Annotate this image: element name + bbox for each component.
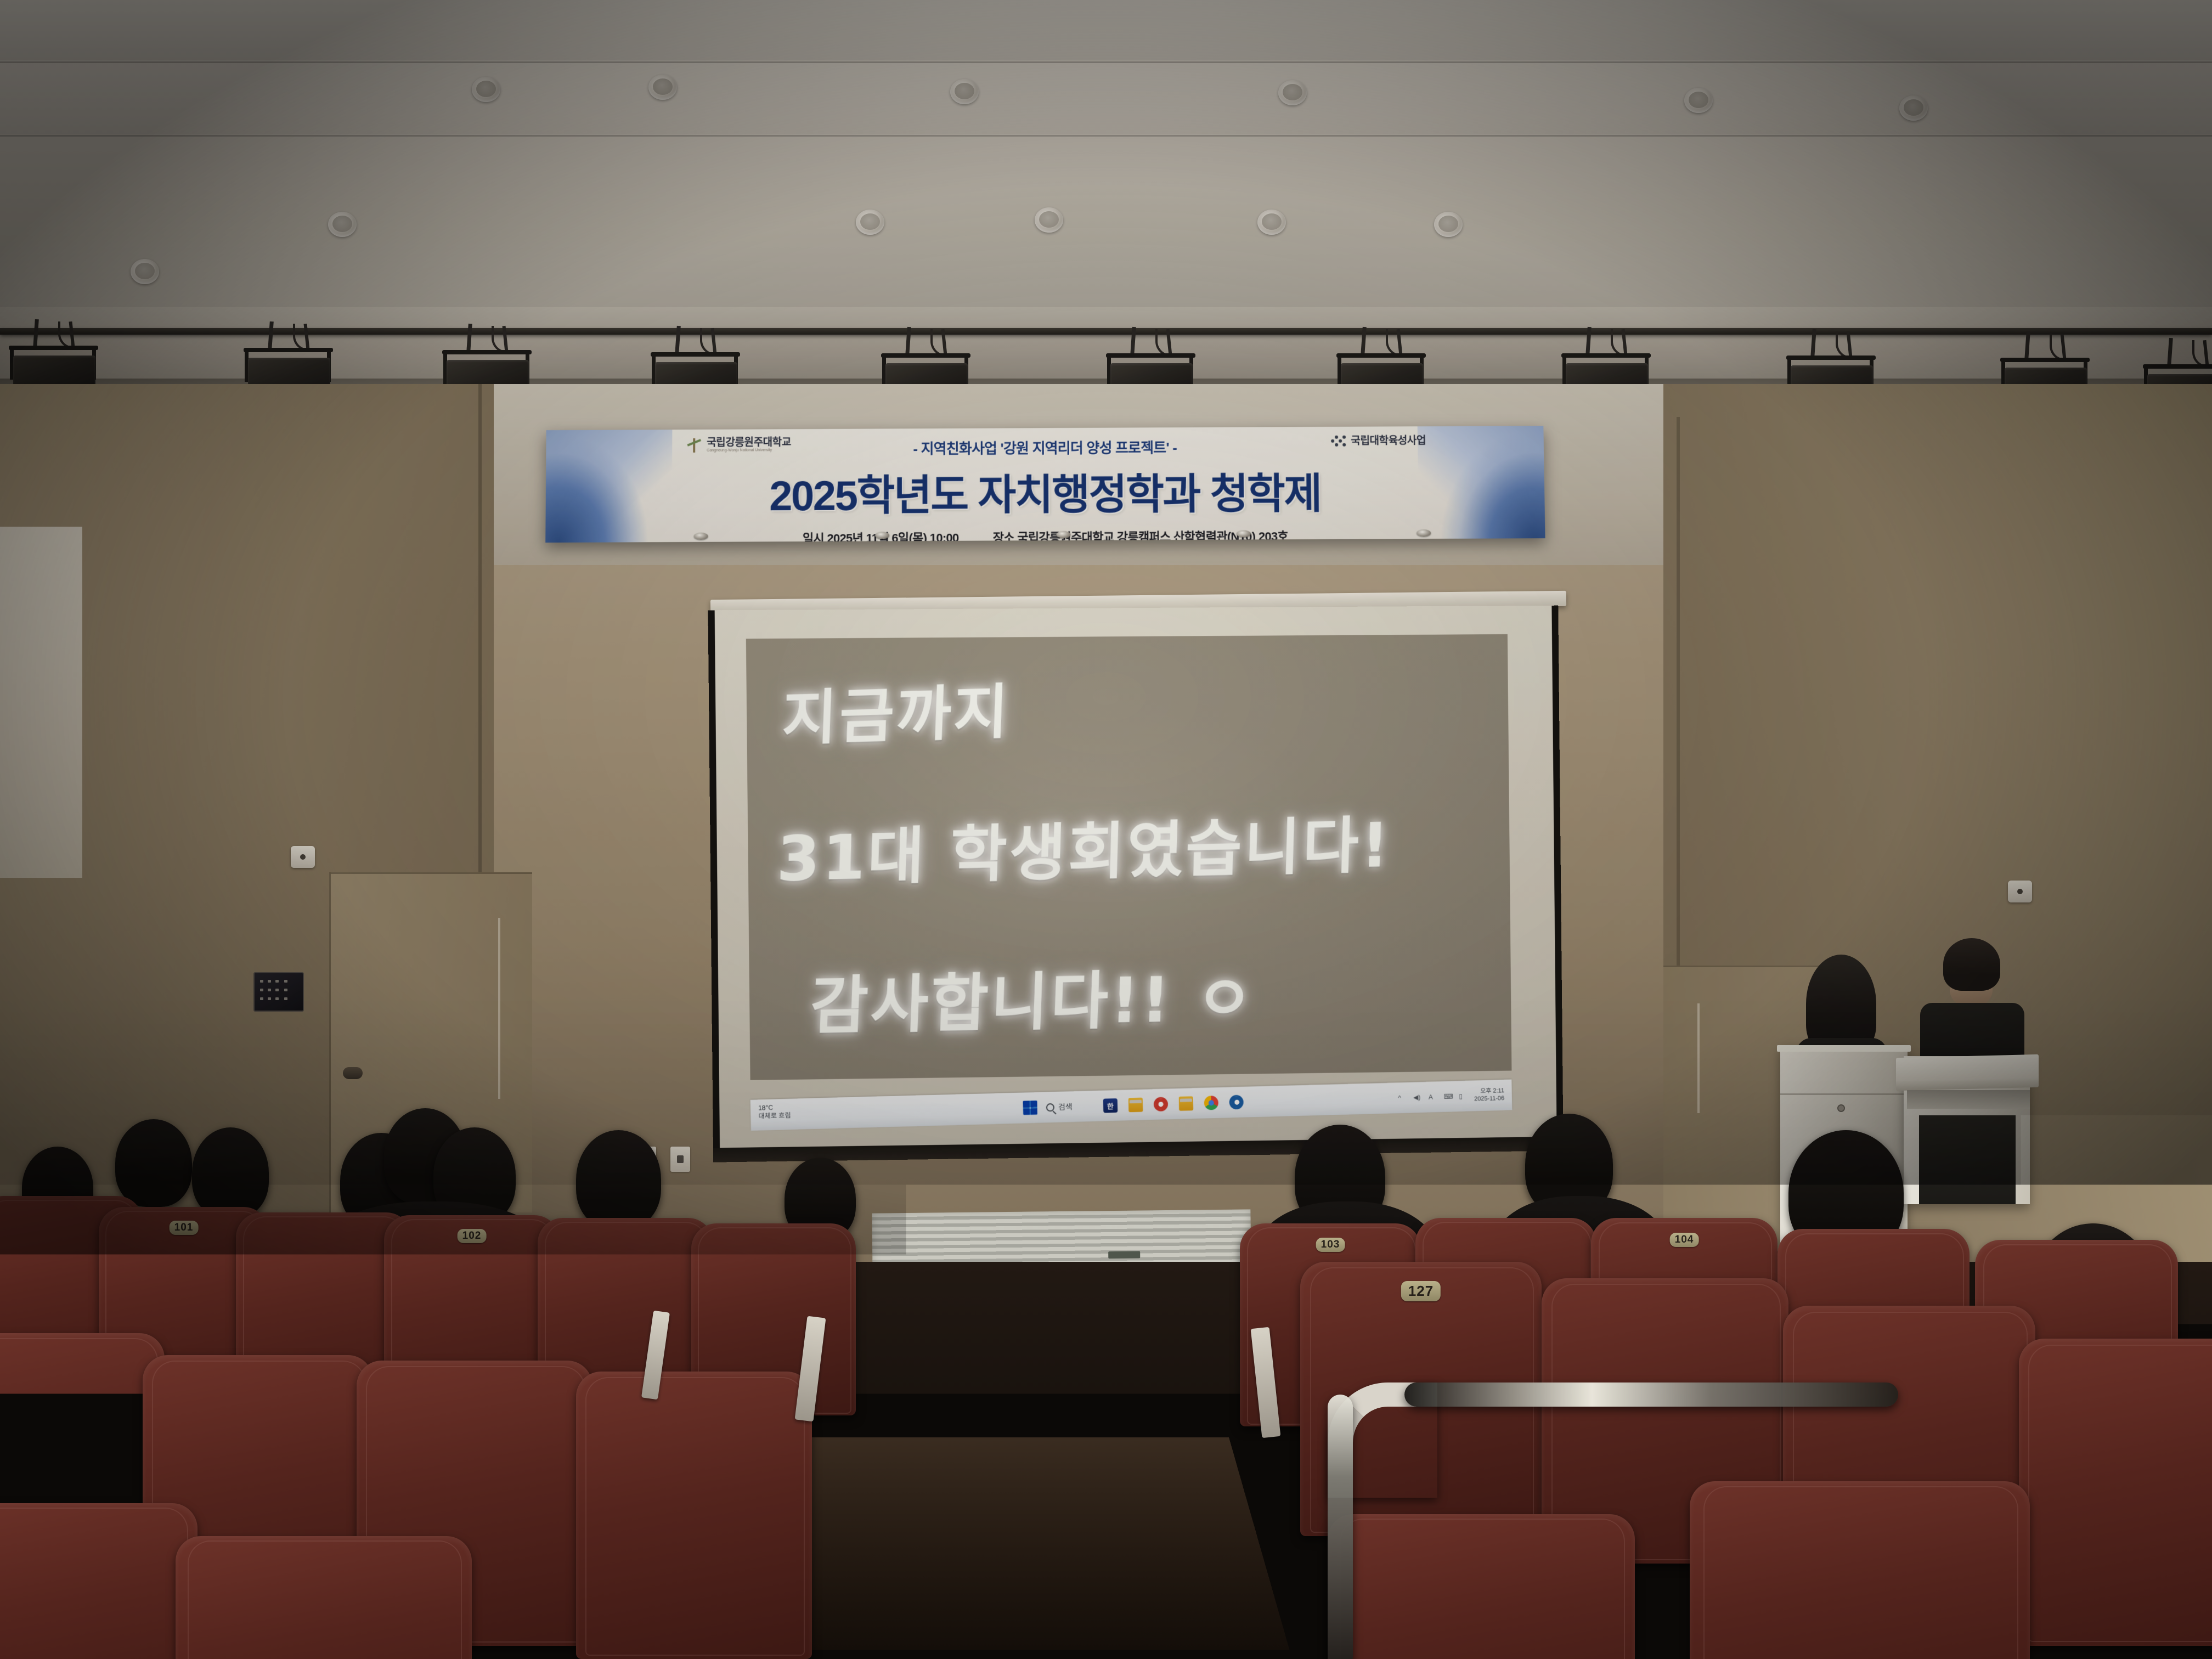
seat-number-plate: 102	[458, 1229, 487, 1243]
seat[interactable]	[576, 1372, 812, 1659]
taskbar-weather-widget[interactable]: 18°C 대체로 흐림	[758, 1103, 791, 1121]
banner-subtitle: - 지역친화사업 '강원 지역리더 양성 프로젝트' -	[913, 437, 1177, 458]
door-edge	[1697, 1003, 1700, 1113]
banner-grommet	[694, 533, 708, 540]
clock-date: 2025-11-06	[1474, 1095, 1504, 1103]
audience-head	[115, 1119, 192, 1207]
taskbar-center-group: 검색 한	[1023, 1087, 1244, 1124]
cabinet-lock-icon	[1837, 1104, 1845, 1112]
projected-text-line-2: 31대 학생회였습니다!	[776, 792, 1539, 899]
audience-head	[192, 1127, 269, 1218]
projection-screen: 지금까지 31대 학생회였습니다! 감사합니다!! ㅇ 18°C 대체로 흐림 …	[708, 606, 1563, 1163]
taskbar-system-tray: ^ ◀) A ⌨ ▯ 오후 2:11 2025-11-06	[1398, 1080, 1505, 1113]
downlight-icon	[1899, 95, 1928, 121]
downlight-icon	[1684, 88, 1713, 113]
banner-grommet	[875, 532, 889, 539]
projected-text-line-3: 감사합니다!! ㅇ	[809, 942, 1556, 1046]
downlight-icon	[950, 79, 979, 104]
chrome-icon[interactable]	[1204, 1096, 1218, 1110]
seat[interactable]: 127	[1300, 1262, 1542, 1536]
downlight-icon	[328, 212, 357, 237]
hwp-icon[interactable]: 한	[1103, 1098, 1118, 1113]
opera-icon[interactable]	[1153, 1097, 1168, 1111]
audience-head	[576, 1130, 661, 1229]
downlight-icon	[472, 77, 500, 102]
edge-icon[interactable]	[1229, 1095, 1244, 1110]
projected-image: 지금까지 31대 학생회였습니다! 감사합니다!! ㅇ	[746, 634, 1512, 1080]
seat[interactable]	[0, 1503, 198, 1659]
banner-grommet	[1417, 529, 1431, 537]
seat[interactable]	[1690, 1481, 2030, 1659]
downlight-icon	[1434, 212, 1463, 237]
downlight-icon	[648, 75, 677, 100]
downlight-icon	[1278, 80, 1307, 105]
battery-icon[interactable]: ▯	[1459, 1092, 1467, 1100]
lectern	[1904, 1056, 2030, 1204]
seat[interactable]	[176, 1536, 472, 1659]
taskbar-pinned-apps: 한	[1103, 1095, 1243, 1113]
lighting-truss	[0, 328, 2212, 335]
louver-label-plate	[1108, 1251, 1140, 1259]
smoke-detector-icon	[291, 846, 315, 868]
left-wall-white-panel	[0, 527, 82, 878]
weather-description: 대체로 흐림	[758, 1111, 791, 1121]
search-label: 검색	[1058, 1101, 1073, 1113]
file-explorer-icon[interactable]	[1128, 1098, 1143, 1113]
folder-icon[interactable]	[1178, 1096, 1193, 1111]
smoke-detector-icon	[2008, 881, 2032, 902]
downlight-icon	[856, 210, 884, 235]
seat-number-plate: 127	[1401, 1281, 1441, 1301]
seat[interactable]	[2019, 1339, 2212, 1646]
auditorium-scene: 국립강릉원주대학교 Gangneung-Wonju National Unive…	[0, 0, 2212, 1659]
network-icon[interactable]: ⌨	[1443, 1092, 1452, 1101]
av-control-panel[interactable]	[253, 972, 304, 1012]
windows-taskbar[interactable]: 18°C 대체로 흐림 검색 한	[751, 1080, 1513, 1131]
seat[interactable]	[1328, 1514, 1635, 1659]
taskbar-search[interactable]: 검색	[1046, 1101, 1073, 1113]
event-banner: 국립강릉원주대학교 Gangneung-Wonju National Unive…	[545, 426, 1545, 543]
banner-grommet	[1237, 530, 1251, 537]
door-edge	[498, 918, 500, 1099]
taskbar-clock[interactable]: 오후 2:11 2025-11-06	[1474, 1087, 1504, 1103]
ime-korean-icon[interactable]: A	[1429, 1093, 1437, 1101]
banner-grommet	[1056, 531, 1070, 538]
banner-title: 2025학년도 자치행정학과 청학제	[769, 460, 1321, 522]
seat-number-plate: 103	[1316, 1238, 1345, 1252]
windows-start-icon[interactable]	[1023, 1101, 1037, 1115]
seat-number-plate: 104	[1670, 1233, 1699, 1247]
downlight-icon	[1035, 207, 1063, 233]
weather-temperature: 18°C	[758, 1103, 791, 1113]
downlight-icon	[1257, 210, 1286, 235]
seat-number-plate: 101	[170, 1221, 199, 1235]
wall-outlet-icon	[670, 1147, 690, 1172]
volume-icon[interactable]: ◀)	[1413, 1093, 1421, 1102]
downlight-icon	[131, 259, 159, 284]
projected-text-line-1: 지금까지	[781, 647, 1544, 757]
center-aisle	[752, 1437, 1290, 1650]
ceiling	[0, 0, 2212, 351]
door-handle-icon[interactable]	[343, 1067, 363, 1079]
search-icon	[1046, 1103, 1054, 1111]
presenter-hair	[1943, 938, 2000, 991]
show-hidden-icons-icon[interactable]: ^	[1398, 1093, 1406, 1102]
screen-surface: 지금까지 31대 학생회였습니다! 감사합니다!! ㅇ 18°C 대체로 흐림 …	[715, 606, 1557, 1148]
